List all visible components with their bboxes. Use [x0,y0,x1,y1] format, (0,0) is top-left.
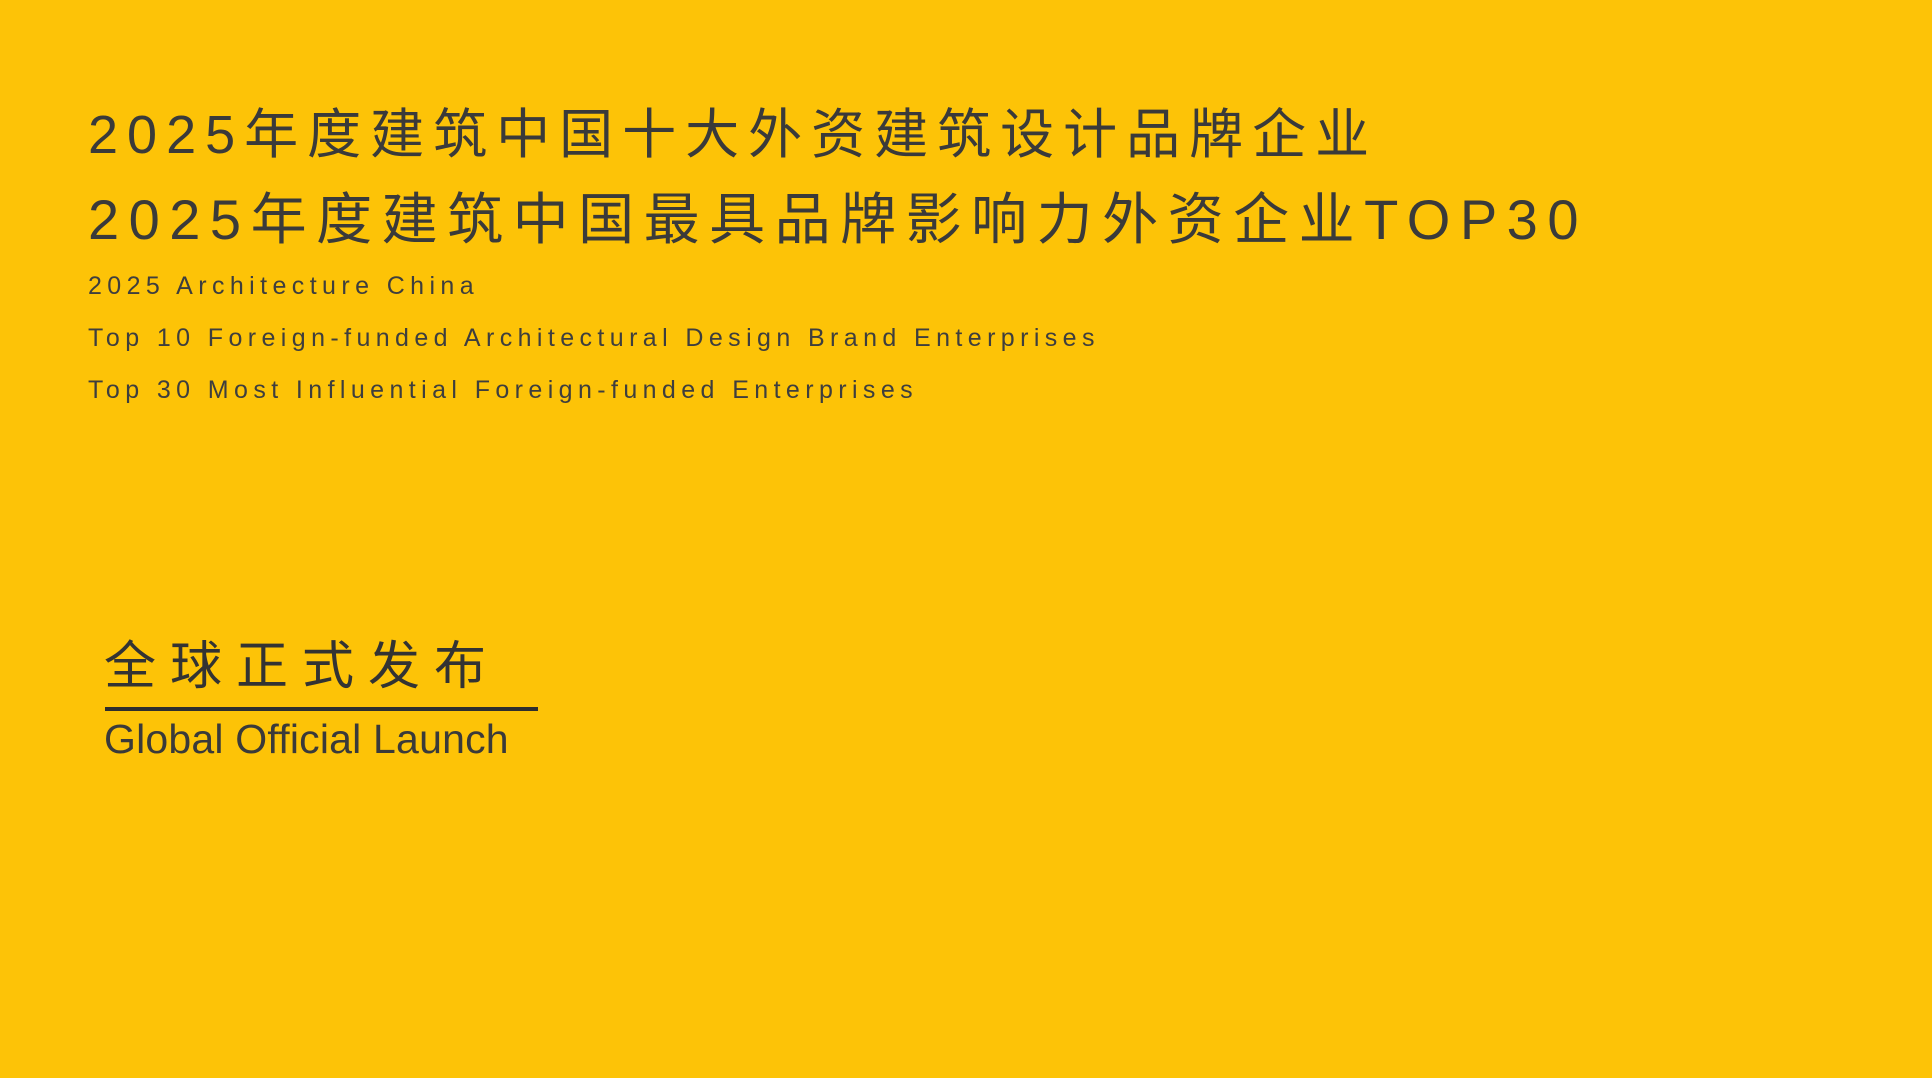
poster-canvas: 2025年度建筑中国十大外资建筑设计品牌企业 2025年度建筑中国最具品牌影响力… [0,0,1932,1078]
english-subtitle-top10: Top 10 Foreign-funded Architectural Desi… [88,326,1788,351]
launch-divider-rule [105,707,538,711]
title-block: 2025年度建筑中国十大外资建筑设计品牌企业 2025年度建筑中国最具品牌影响力… [88,108,1788,403]
english-subtitle-year: 2025 Architecture China [88,274,1788,299]
chinese-heading-secondary: 2025年度建筑中国最具品牌影响力外资企业TOP30 [88,192,1788,248]
launch-block: 全球正式发布 Global Official Launch [104,640,544,763]
english-subtitle-top30: Top 30 Most Influential Foreign-funded E… [88,378,1788,403]
launch-label-chinese: 全球正式发布 [104,640,544,707]
chinese-heading-primary: 2025年度建筑中国十大外资建筑设计品牌企业 [88,108,1788,162]
launch-label-english: Global Official Launch [104,715,544,763]
